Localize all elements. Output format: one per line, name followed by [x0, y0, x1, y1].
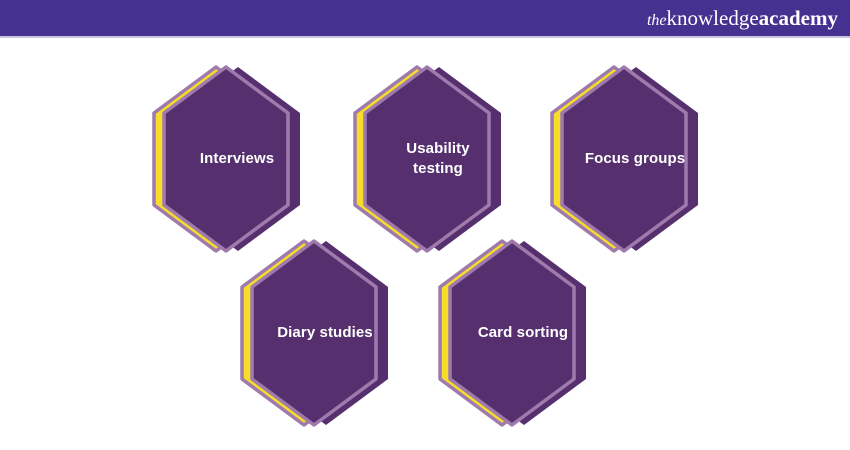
- hexagon-card-diary-studies[interactable]: Diary studies: [218, 238, 418, 428]
- logo-text-academy: academy: [759, 6, 838, 30]
- hexagon-graphic-interviews: [130, 64, 330, 254]
- hexagon-card-usability[interactable]: Usability testing: [331, 64, 531, 254]
- hexagon-card-interviews[interactable]: Interviews: [130, 64, 330, 254]
- hexagon-graphic-card-sorting: [416, 238, 616, 428]
- hexagon-graphic-diary-studies: [218, 238, 418, 428]
- hexagon-card-focus-groups[interactable]: Focus groups: [528, 64, 728, 254]
- hexagon-card-card-sorting[interactable]: Card sorting: [416, 238, 616, 428]
- logo-text-the: the: [647, 12, 667, 29]
- hexagon-graphic-usability: [331, 64, 531, 254]
- logo-text-knowledge: knowledge: [667, 6, 759, 30]
- page-header: theknowledgeacademy: [0, 0, 850, 36]
- brand-logo: theknowledgeacademy: [647, 8, 838, 29]
- hexagon-diagram: InterviewsUsability testingFocus groupsD…: [0, 38, 850, 450]
- hexagon-graphic-focus-groups: [528, 64, 728, 254]
